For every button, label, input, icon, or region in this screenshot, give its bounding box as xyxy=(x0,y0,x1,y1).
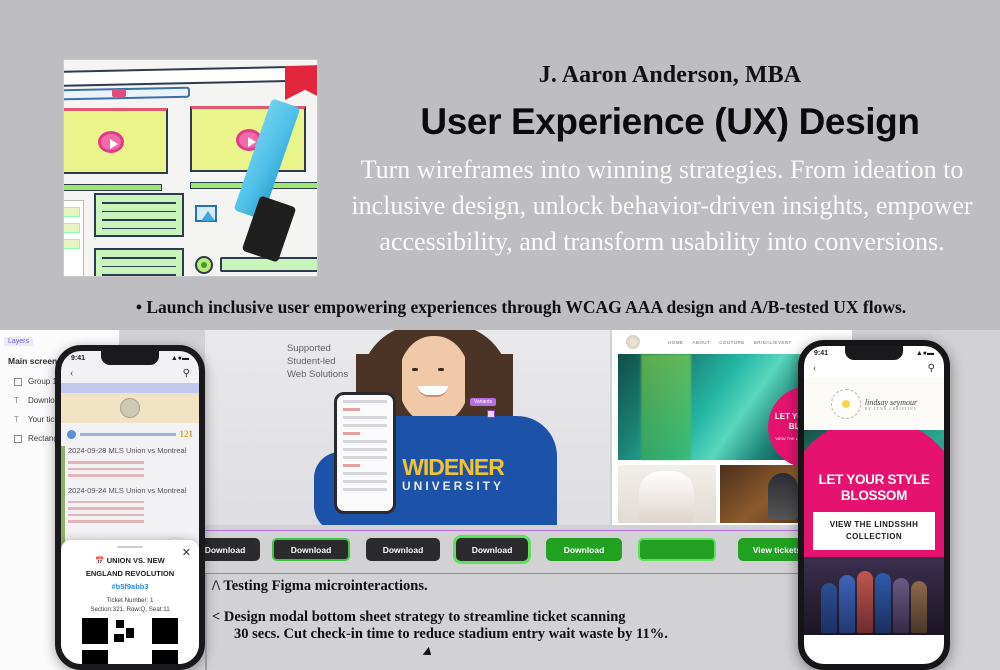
info-icon xyxy=(67,430,76,439)
event-row[interactable]: 2024-09-28 MLS Union vs Montreal xyxy=(61,441,199,457)
ticket-title: 📅 UNION VS. NEW ENGLAND REVOLUTION #b5f9… xyxy=(69,550,191,593)
presenter-name: J. Aaron Anderson, MBA xyxy=(360,62,980,89)
runway-photo xyxy=(804,557,944,635)
ticket-bottom-sheet: ✕ 📅 UNION VS. NEW ENGLAND REVOLUTION #b5… xyxy=(61,540,199,665)
nav-item[interactable]: BRIDAL/EVENT xyxy=(754,340,792,345)
figma-guide-line xyxy=(190,573,830,574)
hero-section: LET YOUR STYLE BLOSSOM VIEW THE LINDSSHH… xyxy=(804,430,944,635)
hero-title: LET YOUR STYLE BLOSSOM xyxy=(804,472,944,504)
text-icon: T xyxy=(14,416,22,424)
nav-item[interactable]: ABOUT xyxy=(692,340,710,345)
status-time: 9:41 xyxy=(814,350,828,357)
variant-resize-handle[interactable] xyxy=(487,410,495,418)
ticket-hash-link[interactable]: #b5f9abb3 xyxy=(111,582,148,591)
search-icon[interactable]: ⚲ xyxy=(183,368,190,379)
team-crest xyxy=(61,393,199,423)
student-photo: Supported Student-led Web Solutions WIDE… xyxy=(205,330,610,525)
notes-rail xyxy=(205,574,207,670)
subtitle-paragraph: Turn wireframes into winning strategies.… xyxy=(332,152,992,260)
ticket-meta: Ticket Number: 1 Section:321, Row:Q, Sea… xyxy=(69,596,191,614)
view-collection-button[interactable]: VIEW THE LINDSSHH COLLECTION xyxy=(813,512,935,550)
brand-header: lindsay seymour BY LYNN CHRISTINE xyxy=(804,378,944,430)
page-title: User Experience (UX) Design xyxy=(360,101,980,143)
play-icon xyxy=(98,131,124,153)
close-icon[interactable]: ✕ xyxy=(182,546,191,559)
download-button[interactable]: Download xyxy=(272,538,350,561)
gallery-image xyxy=(618,465,716,523)
phone-notch xyxy=(845,346,903,360)
slide-canvas: J. Aaron Anderson, MBA User Experience (… xyxy=(0,0,1000,670)
figma-canvas: Layers Main screen Group 1 TDownload the… xyxy=(0,330,1000,670)
nav-item[interactable]: COUTURE xyxy=(719,340,745,345)
status-icons: ▲●▬ xyxy=(916,350,934,357)
frame-icon xyxy=(14,378,22,386)
app-nav-bar: ‹ ⚲ xyxy=(61,362,199,383)
qr-code xyxy=(82,618,178,664)
ticket-app-phone-mockup: 9:41 ▲●▬ ‹ ⚲ 121 2024-09-28 MLS Union vs… xyxy=(55,345,205,670)
layer-label: Group 1 xyxy=(28,377,57,386)
site-logo xyxy=(620,332,664,352)
banner-strip xyxy=(61,383,199,393)
brand-text: lindsay seymour xyxy=(865,398,917,407)
fashion-app-phone-mockup: 9:41 ▲●▬ ‹ ⚲ lindsay seymour BY LYNN CHR… xyxy=(798,340,950,670)
app-nav-bar: ‹ ⚲ xyxy=(804,357,944,378)
brand-subtext: BY LYNN CHRISTINE xyxy=(865,407,917,411)
note-line-3: 30 secs. Cut check-in time to reduce sta… xyxy=(234,626,792,643)
annotation-notes: /\ Testing Figma microinteractions. < De… xyxy=(212,578,792,643)
search-icon[interactable]: ⚲ xyxy=(928,363,935,374)
alert-row[interactable]: 121 xyxy=(61,423,199,441)
record-icon xyxy=(195,256,213,274)
download-button[interactable]: Download xyxy=(456,538,528,561)
download-button[interactable]: Download xyxy=(366,538,440,561)
note-line-2: < Design modal bottom sheet strategy to … xyxy=(212,609,792,626)
event-row[interactable]: 2024-09-24 MLS Union vs Montreal xyxy=(61,481,199,497)
rectangle-icon xyxy=(14,435,22,443)
student-figure: WIDENER UNIVERSITY xyxy=(320,330,575,525)
calendar-icon: 📅 xyxy=(95,556,104,565)
brand-name: lindsay seymour BY LYNN CHRISTINE xyxy=(865,398,917,411)
ticket-number: Ticket Number: 1 xyxy=(69,596,191,605)
download-button[interactable]: Download xyxy=(546,538,622,561)
red-flag-shape xyxy=(285,66,318,100)
sheet-drag-handle[interactable] xyxy=(117,546,143,549)
phone-notch xyxy=(101,351,159,365)
bullet-line: • Launch inclusive user empowering exper… xyxy=(56,297,986,318)
wireframe-sketch-photo xyxy=(63,59,318,277)
alert-count: 121 xyxy=(180,429,194,439)
triangle-icon xyxy=(195,205,217,222)
back-icon[interactable]: ‹ xyxy=(70,368,73,379)
flower-logo-icon xyxy=(831,389,861,419)
nav-item[interactable]: HOME xyxy=(668,340,683,345)
variants-badge[interactable]: Variants xyxy=(470,398,496,406)
empty-green-button[interactable] xyxy=(638,538,716,561)
layers-tab[interactable]: Layers xyxy=(4,337,33,346)
note-line-1: /\ Testing Figma microinteractions. xyxy=(212,578,792,595)
status-time: 9:41 xyxy=(71,355,85,362)
chevron-left-icon[interactable]: ‹ xyxy=(813,363,816,374)
button-variant-set: Download Download Download Download Down… xyxy=(190,525,830,573)
text-icon: T xyxy=(14,397,22,405)
status-icons: ▲●▬ xyxy=(171,355,189,362)
held-phone-mockup xyxy=(334,392,396,514)
ticket-seat: Section:321, Row:Q, Seat:11 xyxy=(69,605,191,614)
